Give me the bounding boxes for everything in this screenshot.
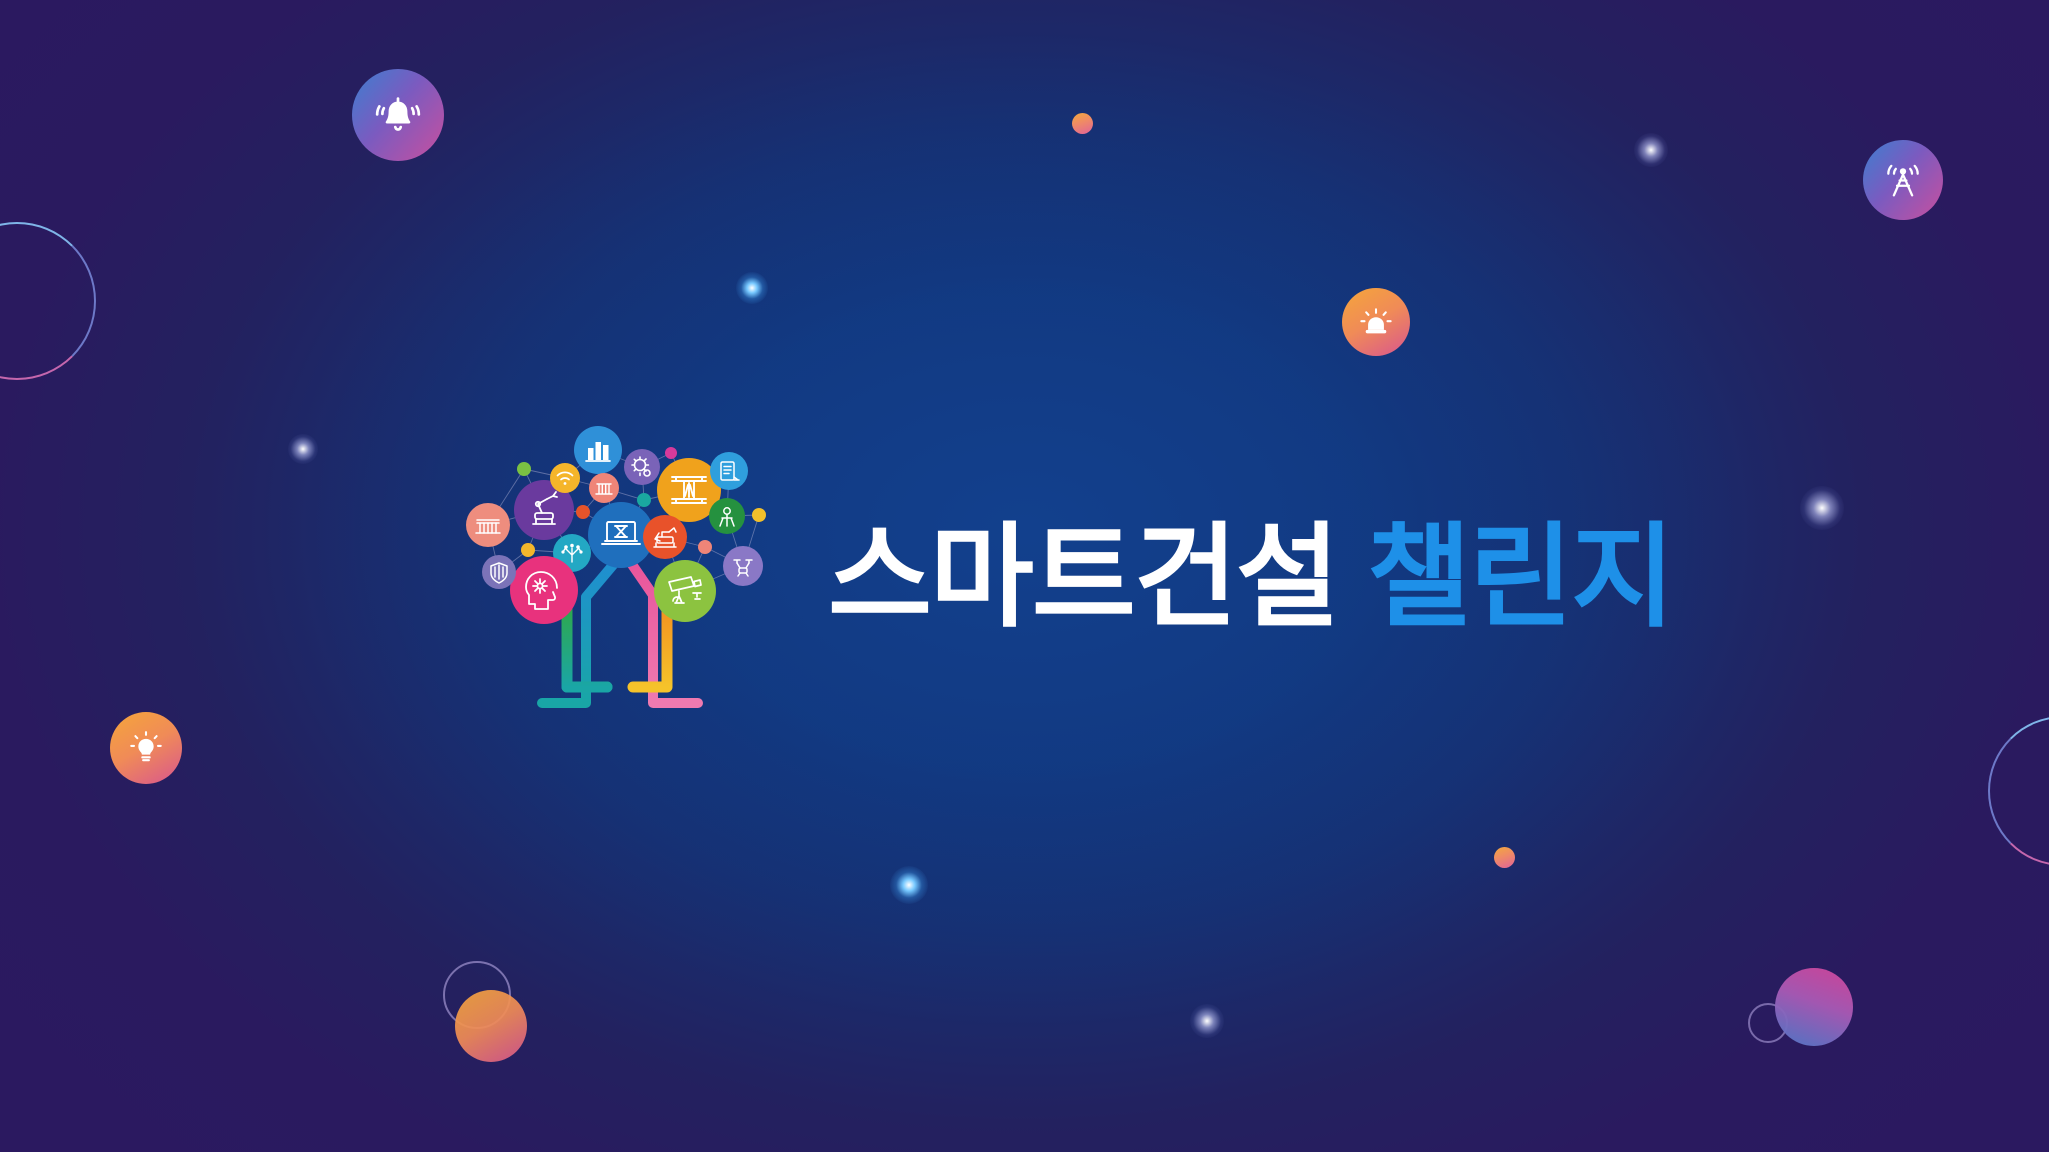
poster-canvas: 스마트건설 챌린지 [0, 0, 2049, 1152]
warning-siren-icon [1357, 303, 1395, 341]
left-edge-ring [0, 222, 96, 380]
star-glow [736, 272, 768, 304]
pink-orb [1775, 968, 1853, 1046]
accent-dot [1072, 113, 1093, 134]
star-glow [288, 434, 318, 464]
lightbulb-icon [126, 728, 166, 768]
star-glow [1190, 1004, 1224, 1038]
bulb-bubble [110, 712, 182, 784]
siren-bubble [1342, 288, 1410, 356]
star-glow [890, 866, 928, 904]
radio-tower-icon [1880, 157, 1926, 203]
smart-construction-tree-logo [455, 405, 785, 740]
orange-orb [455, 990, 527, 1062]
antenna-bubble [1863, 140, 1943, 220]
right-edge-ring [1988, 716, 2049, 866]
accent-dot [1494, 847, 1515, 868]
title-blue-part: 챌린지 [1367, 514, 1673, 640]
title-white-part: 스마트건설 [828, 514, 1338, 640]
ringing-bell-icon [373, 90, 423, 140]
page-title: 스마트건설 챌린지 [828, 521, 1673, 634]
star-glow [1800, 486, 1844, 530]
star-glow [1634, 133, 1668, 167]
bell-bubble [352, 69, 444, 161]
